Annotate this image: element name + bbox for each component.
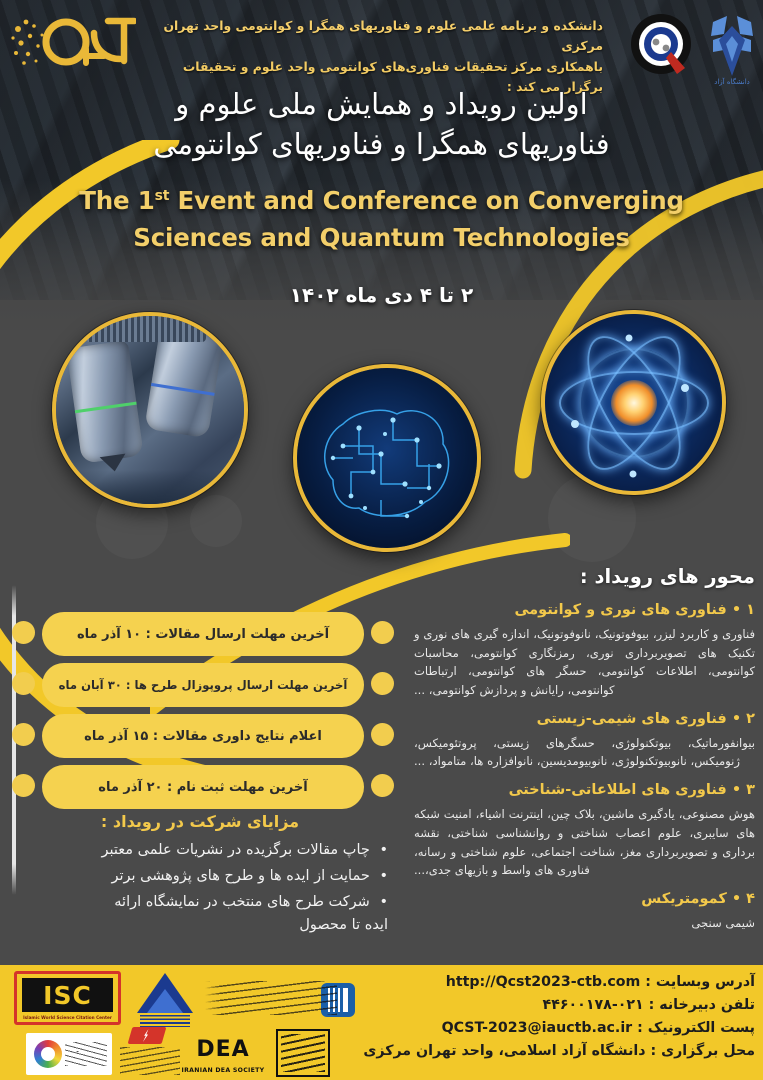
topic-body: هوش مصنوعی، یادگیری ماشین، بلاک چین، این…: [410, 805, 755, 880]
topic-label: فناوری های اطلاعاتی-شناختی: [509, 782, 727, 798]
rainbow-circle-icon: [34, 1040, 62, 1068]
deadline-pill: آخرین مهلت ارسال پروپوزال طرح ها : ۳۰ آب…: [42, 663, 364, 707]
topic-item: ۲ • فناوری های شیمی-زیستی بیوانفورماتیک،…: [410, 709, 755, 771]
deadline-row: آخرین مهلت ارسال مقالات : ۱۰ آذر ماه: [8, 612, 398, 656]
topic-title: ۱ • فناوری های نوری و کوانتومی: [410, 600, 755, 622]
lightning-bolt-icon: [128, 1027, 167, 1044]
ordinal-suffix: st: [155, 188, 170, 204]
website-label: آدرس وبسایت :: [645, 974, 755, 990]
venue-row: محل برگزاری : دانشگاه آزاد اسلامی، واحد …: [355, 1040, 755, 1063]
topic-number: ۱: [746, 602, 755, 618]
benefits-heading: مزایای شرکت در رویداد :: [8, 812, 392, 831]
bullet-icon: •: [379, 868, 388, 884]
topic-label: فناوری های نوری و کوانتومی: [514, 602, 726, 618]
phone-value: ۰۲۱-۴۴۶۰۰۱۷۸: [543, 997, 644, 1013]
persian-title-line-1: اولین رویداد و همایش ملی علوم و: [0, 84, 763, 124]
benefit-item: • شرکت طرح های منتخب در نمایشگاه ارائه: [8, 891, 392, 914]
email-value[interactable]: QCST-2023@iauctb.ac.ir: [442, 1020, 633, 1036]
bullet-icon: •: [379, 842, 388, 858]
deadline-row: آخرین مهلت ثبت نام : ۲۰ آذر ماه: [8, 765, 398, 809]
phone-row: تلفن دبیرخانه : ۰۲۱-۴۴۶۰۰۱۷۸: [355, 994, 755, 1017]
niroo-research-institute-logo: [120, 1027, 182, 1077]
phone-label: تلفن دبیرخانه :: [649, 997, 755, 1013]
rainbow-institute-logo: [26, 1033, 112, 1075]
website-row: آدرس وبسایت : http://Qcst2023-ctb.com: [355, 971, 755, 994]
deadline-pill: اعلام نتایج داوری مقالات : ۱۵ آذر ماه: [42, 714, 364, 758]
topic-item: ۳ • فناوری های اطلاعاتی-شناختی هوش مصنوع…: [410, 780, 755, 880]
venue-label: محل برگزاری :: [651, 1043, 756, 1059]
email-label: پست الکترونیک :: [637, 1020, 755, 1036]
deadline-dot-left-icon: [12, 621, 35, 644]
deadlines-section: آخرین مهلت ارسال مقالات : ۱۰ آذر ماه آخر…: [8, 612, 398, 816]
deadline-dot-right-icon: [371, 723, 394, 746]
microscope-objectives-photo: [52, 312, 248, 508]
topic-title: ۴ • کمومتریکس: [410, 889, 755, 911]
website-value[interactable]: http://Qcst2023-ctb.com: [446, 974, 641, 990]
cognitive-society-script: [205, 981, 337, 1015]
persian-title-line-2: فناوریهای همگرا و فناوریهای کوانتومی: [0, 124, 763, 164]
deadline-pill: آخرین مهلت ثبت نام : ۲۰ آذر ماه: [42, 765, 364, 809]
deadline-row: اعلام نتایج داوری مقالات : ۱۵ آذر ماه: [8, 714, 398, 758]
conference-poster: دانشکده و برنامه علمی علوم و فناوریهای ه…: [0, 0, 763, 1080]
topic-label: فناوری های شیمی-زیستی: [537, 711, 727, 727]
topic-body: بیوانفورماتیک، بیوتکنولوژی، حسگرهای زیست…: [410, 734, 755, 772]
topic-body: فناوری و کاربرد لیزر، بیوفوتونیک، نانوفو…: [410, 625, 755, 700]
english-title-prefix: The 1: [79, 186, 154, 215]
topic-number: ۴: [746, 891, 755, 907]
english-title-rest: Event and Conference on Converging: [178, 186, 684, 215]
topics-section: محور های رویداد : ۱ • فناوری های نوری و …: [410, 565, 755, 942]
deadline-dot-left-icon: [12, 774, 35, 797]
english-title: The 1st Event and Conference on Convergi…: [0, 182, 763, 256]
deadline-pill: آخرین مهلت ارسال مقالات : ۱۰ آذر ماه: [42, 612, 364, 656]
azad-university-logo: دانشگاه آزاد: [625, 6, 757, 86]
benefit-text: شرکت طرح های منتخب در نمایشگاه ارائه: [114, 894, 370, 910]
isc-logo-text: ISC: [22, 978, 113, 1012]
topic-item: ۴ • کمومتریکس شیمی سنجی: [410, 889, 755, 933]
event-date: ۲ تا ۴ دی ماه ۱۴۰۲: [0, 283, 763, 307]
contact-info: آدرس وبسایت : http://Qcst2023-ctb.com تل…: [355, 971, 755, 1063]
benefit-text: حمایت از ایده ها و طرح های پژوهشی برتر: [111, 868, 369, 884]
deadline-dot-right-icon: [371, 621, 394, 644]
benefit-text: چاپ مقالات برگزیده در نشریات علمی معتبر: [102, 842, 370, 858]
rainbow-script-text: [65, 1042, 107, 1066]
inner-triangle-icon: [147, 989, 183, 1013]
benefit-continuation: ایده تا محصول: [8, 917, 392, 933]
sponsor-logos: ISC Islamic World Science Citation Cente…: [0, 965, 345, 1080]
organizer-line-1: دانشکده و برنامه علمی علوم و فناوریهای ه…: [163, 16, 603, 57]
english-title-line-2: Sciences and Quantum Technologies: [0, 219, 763, 256]
topic-body: شیمی سنجی: [410, 914, 755, 933]
deadline-dot-right-icon: [371, 672, 394, 695]
topic-title: ۳ • فناوری های اطلاعاتی-شناختی: [410, 780, 755, 802]
benefit-item: • چاپ مقالات برگزیده در نشریات علمی معتب…: [8, 839, 392, 862]
sbu-calligraphy: [281, 1034, 325, 1072]
topic-number: ۲: [746, 711, 755, 727]
deadline-dot-left-icon: [12, 672, 35, 695]
topics-heading: محور های رویداد :: [410, 565, 755, 588]
circuit-brain-photo: 01100100 10011001: [293, 364, 481, 552]
deadline-row: آخرین مهلت ارسال پروپوزال طرح ها : ۳۰ آب…: [8, 663, 398, 707]
qcst-logo: [8, 9, 136, 75]
dea-logo-subtitle: IRANIAN DEA SOCIETY: [178, 1067, 268, 1074]
deadline-dot-right-icon: [371, 774, 394, 797]
benefit-item: • حمایت از ایده ها و طرح های پژوهشی برتر: [8, 865, 392, 888]
shahid-beheshti-university-logo: [276, 1029, 330, 1077]
poster-footer: آدرس وبسایت : http://Qcst2023-ctb.com تل…: [0, 965, 763, 1080]
dea-logo-text: DEA: [178, 1037, 268, 1062]
bullet-icon: •: [379, 894, 388, 910]
isc-logo: ISC Islamic World Science Citation Cente…: [14, 971, 121, 1025]
topic-number: ۳: [746, 782, 755, 798]
dea-logo: DEA IRANIAN DEA SOCIETY: [178, 1037, 268, 1075]
topic-title: ۲ • فناوری های شیمی-زیستی: [410, 709, 755, 731]
topic-label: کمومتریکس: [641, 891, 727, 907]
benefits-section: مزایای شرکت در رویداد : • چاپ مقالات برگ…: [8, 812, 398, 933]
isc-logo-subtitle: Islamic World Science Citation Center: [17, 1015, 118, 1020]
persian-title: اولین رویداد و همایش ملی علوم و فناوریها…: [0, 84, 763, 164]
atom-orbitals-photo: [541, 310, 726, 495]
english-title-line-1: The 1st Event and Conference on Convergi…: [0, 182, 763, 219]
niroo-script-text: [120, 1047, 180, 1075]
deadline-dot-left-icon: [12, 723, 35, 746]
topic-item: ۱ • فناوری های نوری و کوانتومی فناوری و …: [410, 600, 755, 700]
poster-header: دانشکده و برنامه علمی علوم و فناوریهای ه…: [0, 0, 763, 85]
email-row: پست الکترونیک : QCST-2023@iauctb.ac.ir: [355, 1017, 755, 1040]
logo-base-lines: [140, 1015, 190, 1027]
venue-value: دانشگاه آزاد اسلامی، واحد تهران مرکزی: [363, 1043, 645, 1059]
cognitive-science-society-logo: [130, 969, 200, 1031]
